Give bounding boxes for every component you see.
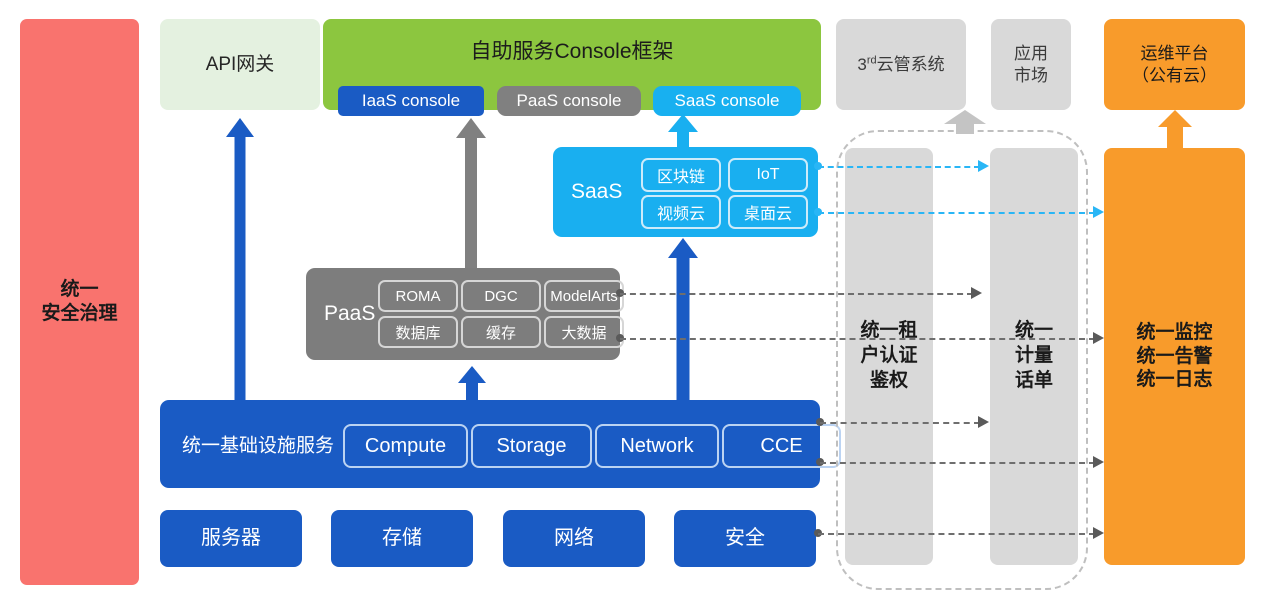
paas-tile-database[interactable]: 数据库 [378, 316, 458, 348]
saas-layer-box[interactable]: SaaS 区块链 IoT 视频云 桌面云 [553, 147, 818, 237]
arrow-infra-to-paas [458, 366, 486, 400]
dashed-line-paas-to-ops [620, 338, 1095, 340]
paas-layer-label: PaaS [324, 302, 375, 326]
dashed-line-saas-to-metering [818, 166, 980, 168]
saas-tile-video-cloud[interactable]: 视频云 [641, 195, 721, 229]
third-party-cloud-mgmt-box[interactable]: 3rd云管系统 [836, 19, 966, 110]
ops-monitoring-panel[interactable]: 统一监控 统一告警 统一日志 [1104, 148, 1245, 565]
unified-infrastructure-box[interactable]: 统一基础设施服务 Compute Storage Network CCE [160, 400, 820, 488]
unified-metering-billing-pillar[interactable]: 统一 计量 话单 [990, 148, 1078, 565]
saas-tile-iot[interactable]: IoT [728, 158, 808, 192]
infra-tile-compute[interactable]: Compute [343, 424, 468, 468]
app-market-label: 应用 市场 [1014, 43, 1048, 86]
security-governance-panel[interactable]: 统一 安全治理 [20, 19, 139, 585]
hardware-label-storage: 存储 [382, 526, 422, 551]
console-framework-box[interactable]: 自助服务Console框架 IaaS console PaaS console … [323, 19, 821, 110]
saas-tile-blockchain[interactable]: 区块链 [641, 158, 721, 192]
arrowhead-infra-to-ops [1093, 456, 1104, 468]
unified-tenant-auth-label: 统一租 户认证 鉴权 [860, 319, 917, 393]
superscript-rd: rd [867, 54, 877, 66]
hardware-box-storage[interactable]: 存储 [331, 510, 473, 567]
arrowhead-saas-to-ops [1093, 206, 1104, 218]
arrowhead-infra-to-metering [978, 416, 989, 428]
hardware-box-security[interactable]: 安全 [674, 510, 816, 567]
ops-platform-public-cloud-label: 运维平台 （公有云） [1132, 43, 1217, 86]
unified-infrastructure-label: 统一基础设施服务 [182, 431, 334, 458]
paas-tile-cache[interactable]: 缓存 [461, 316, 541, 348]
saas-console-chip[interactable]: SaaS console [653, 86, 801, 116]
ops-platform-public-cloud-box[interactable]: 运维平台 （公有云） [1104, 19, 1245, 110]
paas-console-chip[interactable]: PaaS console [497, 86, 641, 116]
paas-tile-roma[interactable]: ROMA [378, 280, 458, 312]
arrowhead-hardware-to-ops [1093, 527, 1104, 539]
unified-metering-billing-label: 统一 计量 话单 [1015, 319, 1053, 393]
arrow-shared-to-third-party [944, 110, 986, 134]
dashed-line-hardware-to-ops [818, 533, 1095, 535]
paas-layer-box[interactable]: PaaS ROMA DGC ModelArts 数据库 缓存 大数据 [306, 268, 620, 360]
dashed-line-infra-to-ops [820, 462, 1095, 464]
hardware-box-server[interactable]: 服务器 [160, 510, 302, 567]
dashed-line-infra-to-metering [820, 422, 980, 424]
api-gateway-box[interactable]: API网关 [160, 19, 320, 110]
iaas-console-label: IaaS console [362, 91, 460, 111]
hardware-label-security: 安全 [725, 526, 765, 551]
paas-tile-bigdata[interactable]: 大数据 [544, 316, 624, 348]
arrow-ops-side-to-ops-top [1158, 110, 1192, 150]
paas-console-label: PaaS console [517, 91, 622, 111]
paas-tile-modelarts[interactable]: ModelArts [544, 280, 624, 312]
third-party-cloud-mgmt-label: 3rd云管系统 [857, 54, 944, 75]
dashed-line-paas-to-auth [620, 293, 973, 295]
hardware-label-server: 服务器 [201, 526, 261, 551]
dashed-line-saas-to-ops [818, 212, 1095, 214]
arrow-infra-to-saas [668, 238, 698, 400]
saas-tile-desktop-cloud[interactable]: 桌面云 [728, 195, 808, 229]
arrow-saas-to-console [668, 114, 698, 148]
paas-tile-dgc[interactable]: DGC [461, 280, 541, 312]
arrowhead-paas-to-ops [1093, 332, 1104, 344]
iaas-console-chip[interactable]: IaaS console [338, 86, 484, 116]
app-market-box[interactable]: 应用 市场 [991, 19, 1071, 110]
hardware-label-network: 网络 [554, 526, 594, 551]
saas-console-label: SaaS console [675, 91, 780, 111]
arrow-infra-to-api-gateway [226, 118, 254, 400]
infra-tile-network[interactable]: Network [595, 424, 719, 468]
api-gateway-label: API网关 [206, 53, 275, 77]
unified-tenant-auth-pillar[interactable]: 统一租 户认证 鉴权 [845, 148, 933, 565]
security-governance-label: 统一 安全治理 [41, 278, 117, 326]
arrowhead-paas-to-auth [971, 287, 982, 299]
console-framework-title: 自助服务Console框架 [323, 35, 821, 65]
infra-tile-storage[interactable]: Storage [471, 424, 592, 468]
arrow-paas-to-console [456, 118, 486, 268]
saas-layer-label: SaaS [571, 180, 622, 204]
arrowhead-saas-to-metering [978, 160, 989, 172]
hardware-box-network[interactable]: 网络 [503, 510, 645, 567]
ops-monitoring-label: 统一监控 统一告警 统一日志 [1136, 321, 1212, 392]
